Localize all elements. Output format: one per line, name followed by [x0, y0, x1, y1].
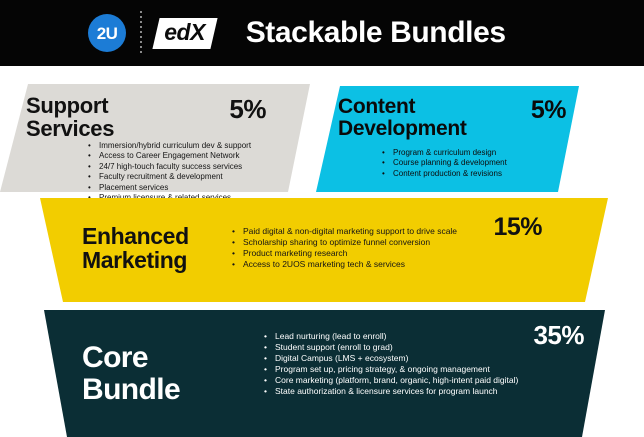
list-item: Lead nurturing (lead to enroll) [264, 331, 518, 342]
list-item: Access to Career Engagement Network [88, 151, 251, 161]
band-enhanced-marketing-heading: Enhanced Marketing [82, 224, 189, 273]
band-core-bundle-percent: 35% [533, 322, 584, 348]
band-content-development-list: Program & curriculum design Course plann… [382, 148, 507, 179]
band-support-services: Support Services 5% Immersion/hybrid cur… [0, 84, 310, 192]
list-item: 24/7 high-touch faculty success services [88, 162, 251, 172]
list-item: Immersion/hybrid curriculum dev & suppor… [88, 141, 251, 151]
band-content-development-percent: 5% [531, 98, 566, 123]
list-item: Placement services [88, 183, 251, 193]
logo-edx-label: edX [164, 21, 205, 44]
band-core-bundle-list: Lead nurturing (lead to enroll) Student … [264, 331, 518, 397]
list-item: Content production & revisions [382, 169, 507, 179]
band-support-services-list: Immersion/hybrid curriculum dev & suppor… [88, 141, 251, 203]
list-item: Faculty recruitment & development [88, 172, 251, 182]
list-item: Access to 2UOS marketing tech & services [232, 259, 457, 270]
page-title: Stackable Bundles [246, 18, 506, 48]
band-enhanced-marketing-list: Paid digital & non-digital marketing sup… [232, 226, 457, 270]
band-content-development-heading: Content Development [338, 96, 467, 141]
list-item: Scholarship sharing to optimize funnel c… [232, 237, 457, 248]
list-item: Program set up, pricing strategy, & ongo… [264, 364, 518, 375]
list-item: Product marketing research [232, 248, 457, 259]
band-content-development: Content Development 5% Program & curricu… [316, 86, 644, 192]
list-item: State authorization & licensure services… [264, 386, 518, 397]
list-item: Paid digital & non-digital marketing sup… [232, 226, 457, 237]
list-item: Program & curriculum design [382, 148, 507, 158]
header-bar: 2U edX Stackable Bundles [0, 0, 644, 66]
band-support-services-percent: 5% [229, 96, 266, 122]
logo-edx-icon: edX [152, 18, 217, 49]
logo-2u-icon: 2U [88, 14, 126, 52]
band-core-bundle-heading: Core Bundle [82, 342, 180, 407]
band-enhanced-marketing-percent: 15% [493, 215, 542, 240]
list-item: Core marketing (platform, brand, organic… [264, 375, 518, 386]
list-item: Student support (enroll to grad) [264, 342, 518, 353]
band-support-services-heading: Support Services [26, 94, 114, 141]
logo-divider [140, 11, 142, 55]
list-item: Digital Campus (LMS + ecosystem) [264, 353, 518, 364]
list-item: Course planning & development [382, 158, 507, 168]
band-core-bundle: Core Bundle 35% Lead nurturing (lead to … [20, 310, 628, 437]
band-enhanced-marketing: Enhanced Marketing 15% Paid digital & no… [20, 198, 628, 302]
logo-2u-label: 2U [97, 25, 118, 42]
